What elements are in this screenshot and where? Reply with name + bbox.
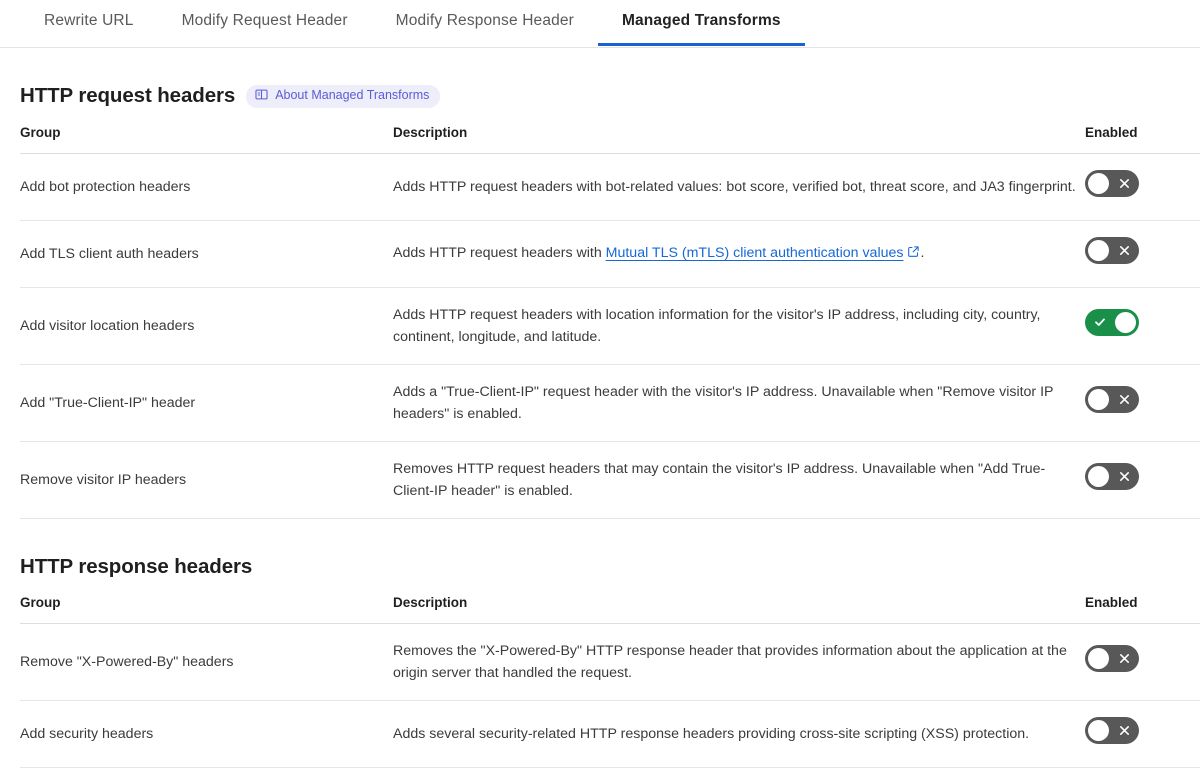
- column-header-description: Description: [393, 591, 1085, 624]
- toggle-knob: [1088, 240, 1109, 261]
- toggle-add-bot-protection-headers[interactable]: [1085, 170, 1139, 197]
- book-icon: [255, 88, 268, 104]
- row-enabled-cell: [1085, 624, 1200, 701]
- row-enabled-cell: [1085, 287, 1200, 364]
- toggle-knob: [1088, 720, 1109, 741]
- toggle-add-tls-client-auth-headers[interactable]: [1085, 237, 1139, 264]
- toggle-x-icon: [1109, 386, 1139, 413]
- toggle-remove-visitor-ip-headers[interactable]: [1085, 463, 1139, 490]
- table-row: Add security headers Adds several securi…: [20, 701, 1200, 768]
- row-group-label: Add bot protection headers: [20, 153, 393, 220]
- toggle-x-icon: [1109, 463, 1139, 490]
- table-row: Remove visitor IP headers Removes HTTP r…: [20, 441, 1200, 518]
- toggle-x-icon: [1109, 237, 1139, 264]
- about-managed-transforms-badge[interactable]: About Managed Transforms: [246, 85, 440, 108]
- table-header-row: Group Description Enabled: [20, 121, 1200, 154]
- mtls-documentation-link[interactable]: Mutual TLS (mTLS) client authentication …: [606, 245, 904, 261]
- toggle-knob: [1115, 312, 1136, 333]
- toggle-add-visitor-location-headers[interactable]: [1085, 309, 1139, 336]
- toggle-knob: [1088, 173, 1109, 194]
- row-enabled-cell: [1085, 441, 1200, 518]
- tab-modify-response-header[interactable]: Modify Response Header: [372, 0, 598, 45]
- toggle-x-icon: [1109, 717, 1139, 744]
- table-header-row: Group Description Enabled: [20, 591, 1200, 624]
- row-group-label: Remove visitor IP headers: [20, 441, 393, 518]
- table-row: Remove "X-Powered-By" headers Removes th…: [20, 624, 1200, 701]
- toggle-remove-x-powered-by-headers[interactable]: [1085, 645, 1139, 672]
- about-managed-transforms-label: About Managed Transforms: [275, 89, 429, 103]
- section-header-request: HTTP request headers About Managed Trans…: [20, 84, 1180, 109]
- row-description: Adds HTTP request headers with bot-relat…: [393, 153, 1085, 220]
- tab-modify-request-header[interactable]: Modify Request Header: [158, 0, 372, 45]
- toggle-x-icon: [1109, 170, 1139, 197]
- row-description: Adds HTTP request headers with Mutual TL…: [393, 220, 1085, 287]
- row-description: Adds a "True-Client-IP" request header w…: [393, 364, 1085, 441]
- row-enabled-cell: [1085, 153, 1200, 220]
- tab-rewrite-url[interactable]: Rewrite URL: [20, 0, 158, 45]
- table-row: Add "True-Client-IP" header Adds a "True…: [20, 364, 1200, 441]
- page-title-response-headers: HTTP response headers: [20, 555, 252, 580]
- row-description: Adds HTTP request headers with location …: [393, 287, 1085, 364]
- toggle-knob: [1088, 648, 1109, 669]
- toggle-add-security-headers[interactable]: [1085, 717, 1139, 744]
- column-header-group: Group: [20, 591, 393, 624]
- toggle-add-true-client-ip-header[interactable]: [1085, 386, 1139, 413]
- row-description-suffix: .: [920, 245, 924, 261]
- row-group-label: Add TLS client auth headers: [20, 220, 393, 287]
- row-group-label: Add visitor location headers: [20, 287, 393, 364]
- response-headers-table: Group Description Enabled Remove "X-Powe…: [20, 591, 1200, 768]
- table-row: Add visitor location headers Adds HTTP r…: [20, 287, 1200, 364]
- row-group-label: Add "True-Client-IP" header: [20, 364, 393, 441]
- column-header-enabled: Enabled: [1085, 591, 1200, 624]
- section-http-response-headers: HTTP response headers Group Description …: [0, 555, 1200, 768]
- tab-bar: Rewrite URL Modify Request Header Modify…: [0, 0, 1200, 48]
- row-description: Removes the "X-Powered-By" HTTP response…: [393, 624, 1085, 701]
- request-headers-table: Group Description Enabled Add bot protec…: [20, 121, 1200, 519]
- mtls-link-label: Mutual TLS (mTLS) client authentication …: [606, 245, 904, 261]
- row-enabled-cell: [1085, 701, 1200, 768]
- toggle-knob: [1088, 466, 1109, 487]
- tab-managed-transforms[interactable]: Managed Transforms: [598, 0, 805, 45]
- row-enabled-cell: [1085, 364, 1200, 441]
- section-header-response: HTTP response headers: [20, 555, 1180, 580]
- row-group-label: Remove "X-Powered-By" headers: [20, 624, 393, 701]
- row-description: Removes HTTP request headers that may co…: [393, 441, 1085, 518]
- toggle-knob: [1088, 389, 1109, 410]
- column-header-group: Group: [20, 121, 393, 154]
- row-group-label: Add security headers: [20, 701, 393, 768]
- row-description-prefix: Adds HTTP request headers with: [393, 245, 606, 261]
- toggle-check-icon: [1085, 309, 1115, 336]
- row-enabled-cell: [1085, 220, 1200, 287]
- external-link-icon[interactable]: [907, 243, 920, 265]
- table-row: Add TLS client auth headers Adds HTTP re…: [20, 220, 1200, 287]
- page-title-request-headers: HTTP request headers: [20, 84, 235, 109]
- column-header-enabled: Enabled: [1085, 121, 1200, 154]
- section-http-request-headers: HTTP request headers About Managed Trans…: [0, 84, 1200, 519]
- column-header-description: Description: [393, 121, 1085, 154]
- row-description: Adds several security-related HTTP respo…: [393, 701, 1085, 768]
- toggle-x-icon: [1109, 645, 1139, 672]
- table-row: Add bot protection headers Adds HTTP req…: [20, 153, 1200, 220]
